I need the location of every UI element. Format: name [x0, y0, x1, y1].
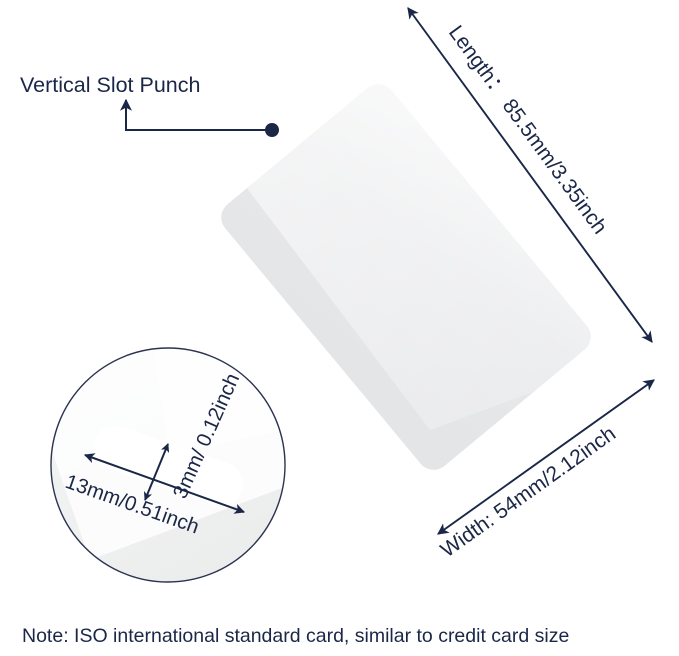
diagram-canvas: Vertical Slot Punch Length： 85.5mm/3.35i…	[0, 0, 679, 656]
slot-magnifier: 13mm/0.51inch 3mm/ 0.12inch	[20, 300, 330, 582]
callout-label: Vertical Slot Punch	[20, 73, 200, 97]
vertical-slot-punch-callout: Vertical Slot Punch	[20, 73, 279, 137]
card-dimension-diagram: Vertical Slot Punch Length： 85.5mm/3.35i…	[0, 0, 679, 656]
callout-leader-line	[126, 100, 268, 130]
callout-leader-dot	[265, 123, 279, 137]
note-text: Note: ISO international standard card, s…	[22, 625, 569, 647]
